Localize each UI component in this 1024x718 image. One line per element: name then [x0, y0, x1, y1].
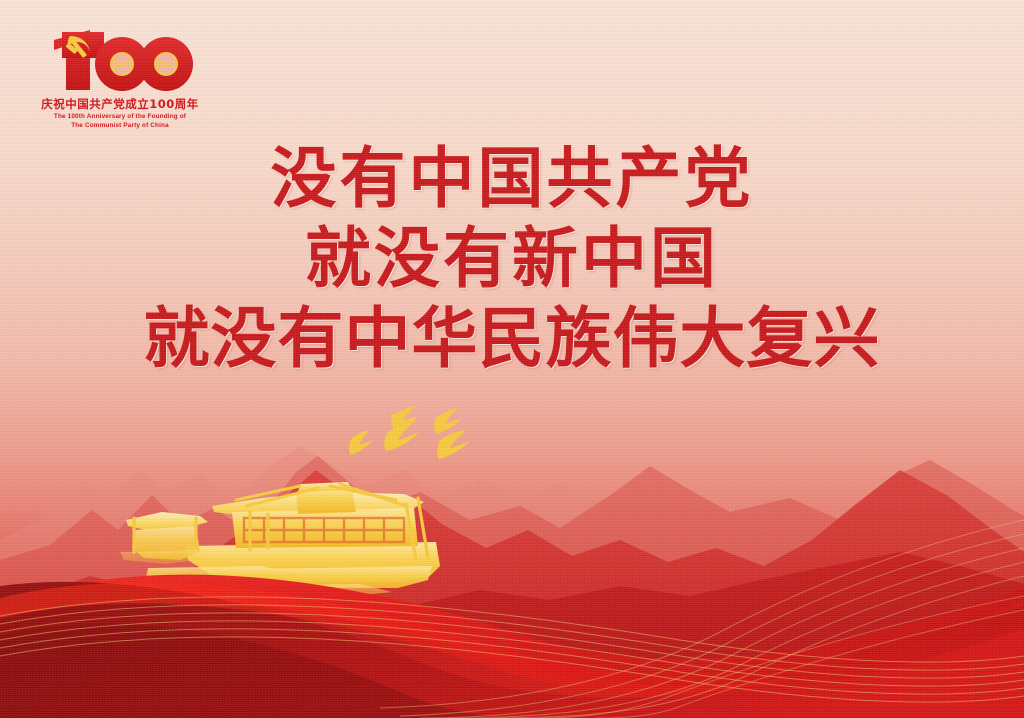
logo-year-1921: 1921	[112, 60, 132, 70]
headline-line-2: 就没有新中国	[0, 226, 1024, 292]
logo-numeral-graphic: 1921 2021	[40, 24, 200, 96]
cpc-100-anniversary-logo[interactable]: 1921 2021 庆祝中国共产党成立100周年 The 100th Anniv…	[40, 24, 200, 136]
logo-caption-english-line2: The Communist Party of China	[40, 121, 200, 130]
gold-line-group-mid	[540, 596, 1024, 718]
poster-canvas: 1921 2021 庆祝中国共产党成立100周年 The 100th Anniv…	[0, 0, 1024, 718]
headline-line-1: 没有中国共产党	[0, 146, 1024, 212]
headline-line-3: 就没有中华民族伟大复兴	[0, 306, 1024, 372]
logo-caption-chinese: 庆祝中国共产党成立100周年	[40, 96, 200, 112]
gold-line-group-right	[380, 520, 1024, 718]
logo-caption-english: The 100th Anniversary of the Founding of…	[40, 112, 200, 130]
logo-year-2021: 2021	[156, 60, 176, 70]
gold-line-group	[0, 597, 1024, 702]
logo-digit-zero-2021: 2021	[139, 37, 193, 91]
headline-block: 没有中国共产党 就没有新中国 就没有中华民族伟大复兴	[0, 146, 1024, 372]
logo-caption-english-line1: The 100th Anniversary of the Founding of	[40, 112, 200, 121]
